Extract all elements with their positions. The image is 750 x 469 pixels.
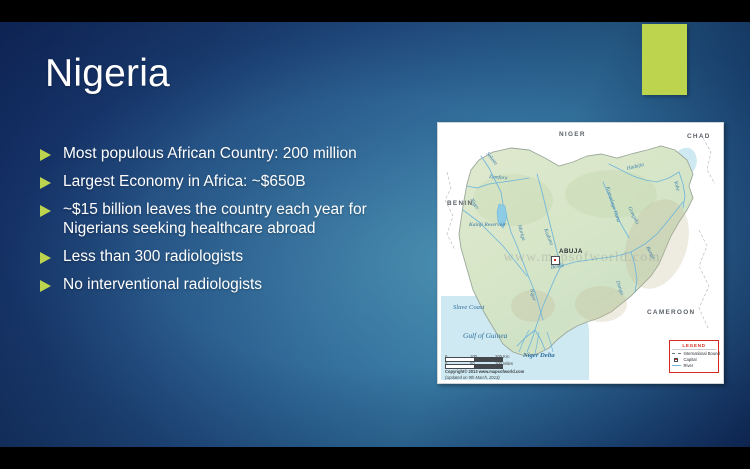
accent-rectangle	[642, 24, 687, 95]
legend-title: LEGEND	[672, 343, 716, 350]
legend-label-international-boundary: International Boundary	[684, 351, 721, 356]
bullet-item-2: Largest Economy in Africa: ~$650B	[40, 172, 422, 191]
bullet-item-4: Less than 300 radiologists	[40, 247, 422, 266]
legend-row-international-boundary: International Boundary	[672, 351, 716, 356]
letterbox-bottom	[0, 447, 750, 469]
legend-row-river: River	[672, 363, 716, 368]
copyright-line-2: (Updated on 9th March, 2013)	[445, 375, 524, 380]
triangle-bullet-icon	[40, 252, 51, 264]
slide-canvas: Nigeria Most populous African Country: 2…	[0, 22, 750, 447]
scale-line-km: 0 100 200 Km	[445, 354, 519, 361]
river-label-zamfara: Zamfara	[489, 174, 508, 181]
bullet-item-3: ~$15 billion leaves the country each yea…	[40, 200, 422, 238]
bullet-text-3: ~$15 billion leaves the country each yea…	[63, 200, 422, 238]
legend-label-river: River	[684, 363, 694, 368]
triangle-bullet-icon	[40, 280, 51, 292]
country-label-niger: NIGER	[559, 131, 586, 138]
map-legend: LEGEND International Boundary Capital Ri…	[669, 340, 719, 373]
triangle-bullet-icon	[40, 149, 51, 161]
nigeria-map-image: www.mapsofworld.com NIGER CHAD BENIN CAM…	[437, 122, 724, 384]
bullet-text-1: Most populous African Country: 200 milli…	[63, 144, 357, 163]
bullet-list: Most populous African Country: 200 milli…	[40, 144, 422, 303]
scale-line-miles: 0 50 100 Miles	[445, 361, 519, 368]
bullet-item-5: No interventional radiologists	[40, 275, 422, 294]
country-label-cameroon: CAMEROON	[647, 309, 695, 316]
bullet-item-1: Most populous African Country: 200 milli…	[40, 144, 422, 163]
map-canvas: www.mapsofworld.com NIGER CHAD BENIN CAM…	[441, 126, 720, 380]
dashed-line-icon	[672, 351, 681, 356]
river-line-icon	[672, 363, 681, 368]
map-scale-bar: 0 100 200 Km 0 50 100 Miles	[445, 354, 519, 368]
letterbox-top	[0, 0, 750, 22]
capital-square-icon	[551, 256, 560, 265]
water-label-gulf-of-guinea: Gulf of Guinea	[463, 332, 507, 341]
triangle-bullet-icon	[40, 205, 51, 217]
water-label-kainji-reservoir: Kainji Reservoir	[469, 222, 506, 228]
copyright-line-1: Copyright© 2013 www.mapsofworld.com	[445, 369, 524, 375]
water-label-niger-delta: Niger Delta	[523, 352, 555, 359]
legend-row-capital: Capital	[672, 357, 716, 362]
slide-frame: Nigeria Most populous African Country: 2…	[0, 0, 750, 469]
legend-label-capital: Capital	[684, 357, 697, 362]
page-title: Nigeria	[45, 52, 170, 96]
country-label-chad: CHAD	[687, 133, 711, 140]
capital-square-icon	[672, 357, 681, 362]
capital-label-abuja: ABUJA	[559, 248, 583, 255]
bullet-text-4: Less than 300 radiologists	[63, 247, 243, 266]
bullet-text-5: No interventional radiologists	[63, 275, 262, 294]
bullet-text-2: Largest Economy in Africa: ~$650B	[63, 172, 306, 191]
triangle-bullet-icon	[40, 177, 51, 189]
water-label-slave-coast: Slave Coast	[453, 304, 484, 311]
map-copyright: Copyright© 2013 www.mapsofworld.com (Upd…	[445, 369, 524, 380]
